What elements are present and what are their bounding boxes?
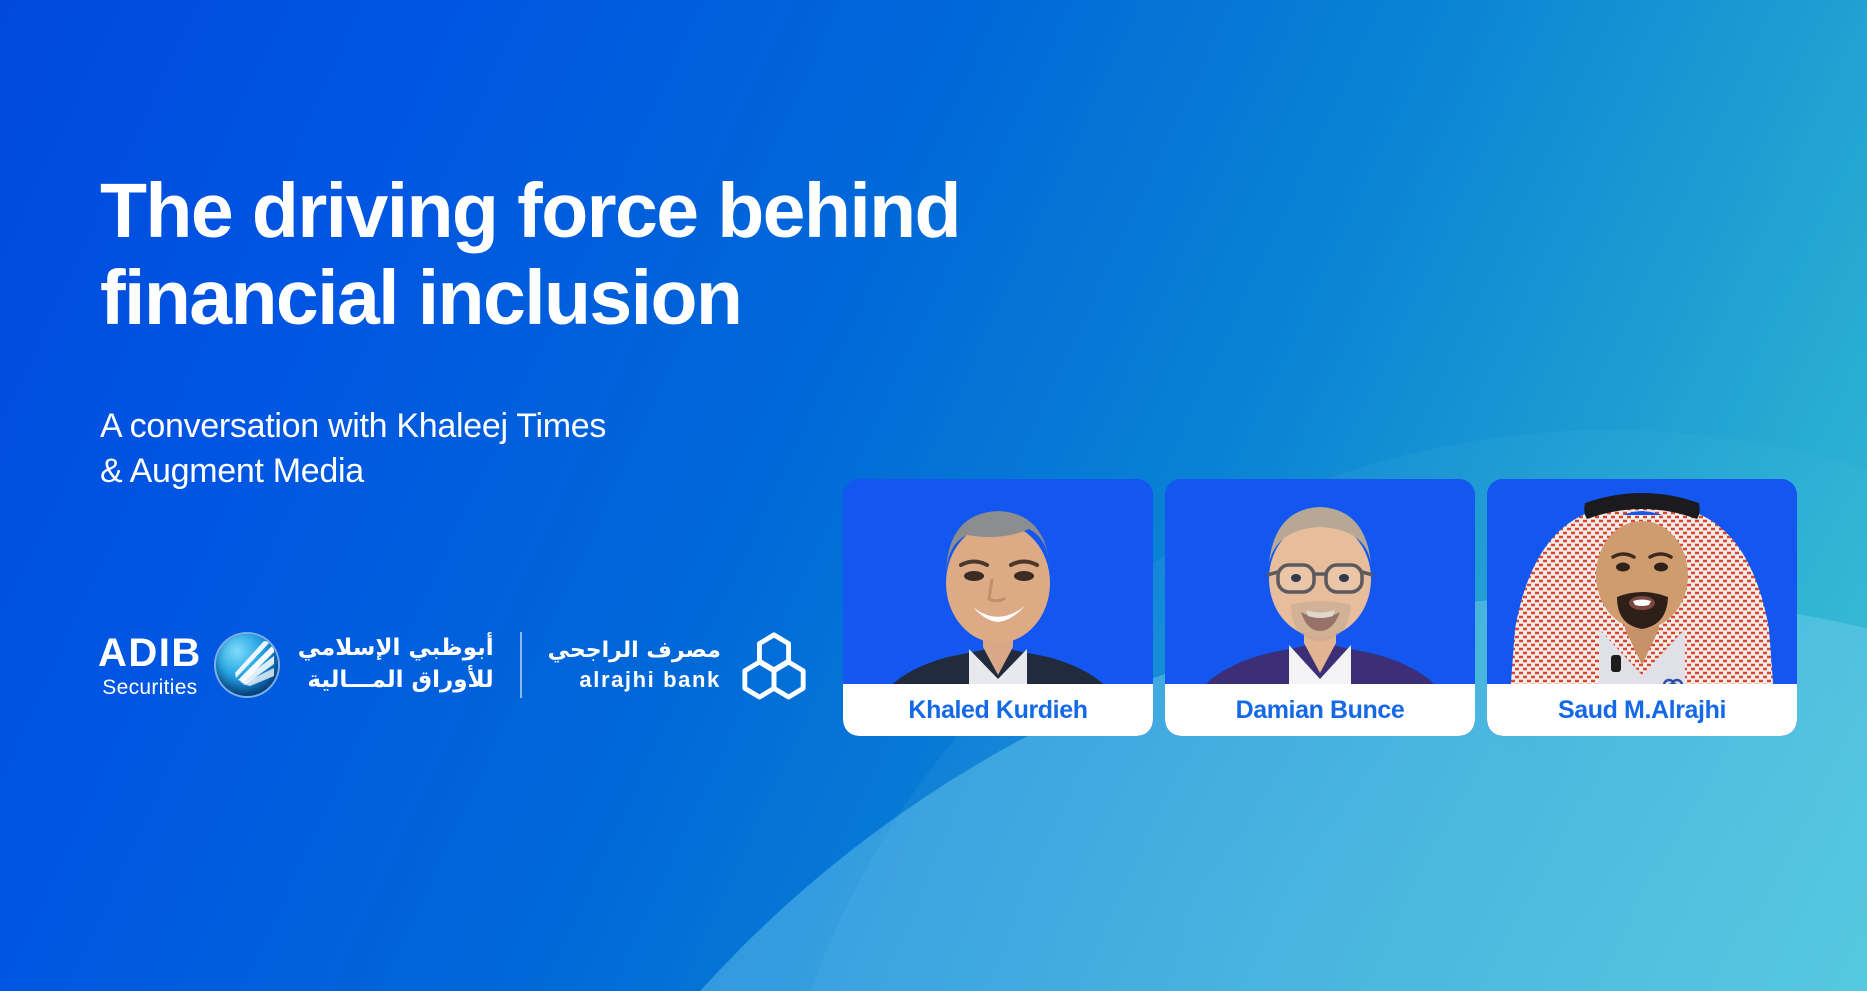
alrajhi-bank-logo: مصرف الراجحي alrajhi bank bbox=[548, 630, 809, 700]
adib-globe-icon bbox=[216, 634, 278, 696]
speaker-card[interactable]: Khaled Kurdieh bbox=[843, 479, 1153, 736]
speaker-card[interactable]: Saud M.Alrajhi bbox=[1487, 479, 1797, 736]
speaker-name: Saud M.Alrajhi bbox=[1558, 696, 1726, 725]
adib-arabic-name: أبوظبي الإسلامي للأوراق المـــالية bbox=[298, 633, 494, 696]
speaker-nameplate: Saud M.Alrajhi bbox=[1487, 684, 1797, 736]
adib-wordmark-primary: ADIB bbox=[98, 633, 202, 673]
speaker-card[interactable]: Damian Bunce bbox=[1165, 479, 1475, 736]
adib-wordmark: ADIB Securities bbox=[98, 633, 202, 698]
speaker-nameplate: Damian Bunce bbox=[1165, 684, 1475, 736]
hero-subtitle: A conversation with Khaleej Times & Augm… bbox=[100, 342, 1060, 494]
speaker-nameplate: Khaled Kurdieh bbox=[843, 684, 1153, 736]
alrajhi-trefoil-icon bbox=[739, 630, 809, 700]
alrajhi-english-name: alrajhi bank bbox=[579, 669, 720, 691]
speaker-card-list: Khaled Kurdieh bbox=[843, 479, 1797, 736]
speaker-name: Damian Bunce bbox=[1236, 696, 1405, 725]
logo-divider bbox=[520, 632, 522, 698]
speaker-name: Khaled Kurdieh bbox=[908, 696, 1087, 725]
alrajhi-arabic-name: مصرف الراجحي bbox=[548, 640, 721, 662]
alrajhi-wordmark: مصرف الراجحي alrajhi bank bbox=[548, 640, 721, 691]
adib-rays-icon bbox=[234, 640, 276, 686]
adib-securities-logo: ADIB Securities أبوظبي الإسلامي للأوراق … bbox=[98, 633, 494, 698]
page-title: The driving force behind financial inclu… bbox=[100, 168, 1060, 342]
adib-wordmark-secondary: Securities bbox=[102, 677, 197, 698]
partner-logo-row: ADIB Securities أبوظبي الإسلامي للأوراق … bbox=[98, 630, 809, 700]
hero-text-block: The driving force behind financial inclu… bbox=[100, 168, 1060, 494]
promo-banner: The driving force behind financial inclu… bbox=[0, 0, 1867, 991]
